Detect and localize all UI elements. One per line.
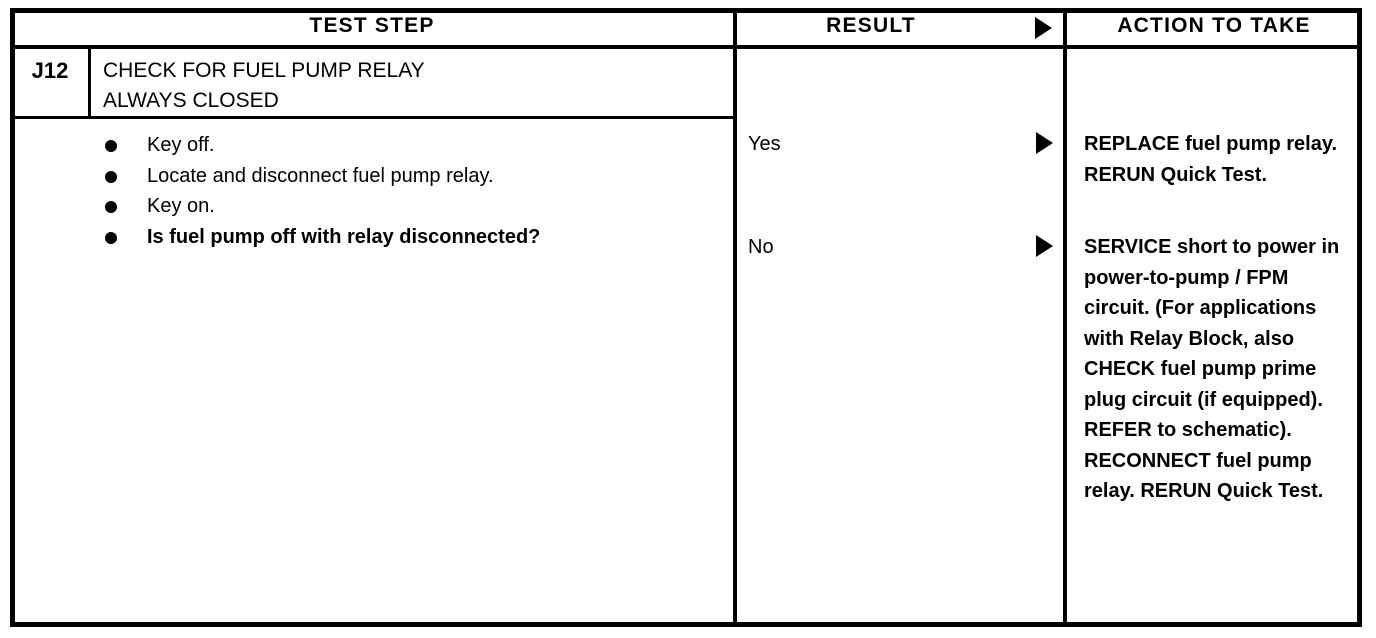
step-title: CHECK FOR FUEL PUMP RELAY ALWAYS CLOSED [103,56,723,116]
column-header-action-to-take: ACTION TO TAKE [1071,14,1357,38]
triangle-right-icon-row-no [1036,235,1053,257]
instruction-question: Is fuel pump off with relay disconnected… [147,226,540,248]
list-item: Key on. [100,191,725,222]
action-text-no: SERVICE short to power in power-to-pump … [1084,232,1346,507]
triangle-right-icon-header [1035,17,1052,39]
instruction-list: Key off. Locate and disconnect fuel pump… [100,130,725,252]
column-divider-action [1063,8,1067,627]
step-id: J12 [14,58,86,84]
bullet-dot-icon [105,232,117,244]
step-id-divider [88,45,91,118]
column-header-test-step: TEST STEP [14,14,730,38]
instruction-text: Locate and disconnect fuel pump relay. [147,165,494,187]
step-title-divider [10,116,733,119]
bullet-dot-icon [105,171,117,183]
list-item: Key off. [100,130,725,161]
column-header-result: RESULT [741,14,1001,38]
result-yes: Yes [748,133,781,156]
list-item: Is fuel pump off with relay disconnected… [100,222,725,253]
action-text-yes: REPLACE fuel pump relay. RERUN Quick Tes… [1084,129,1346,190]
instruction-text: Key on. [147,195,215,217]
column-divider-result [733,8,737,627]
bullet-dot-icon [105,140,117,152]
step-title-line-2: ALWAYS CLOSED [103,86,723,116]
result-no: No [748,236,774,259]
instruction-text: Key off. [147,134,214,156]
bullet-dot-icon [105,201,117,213]
pinpoint-test-page: TEST STEP RESULT ACTION TO TAKE J12 CHEC… [0,0,1376,638]
step-title-line-1: CHECK FOR FUEL PUMP RELAY [103,56,723,86]
triangle-right-icon-row-yes [1036,132,1053,154]
list-item: Locate and disconnect fuel pump relay. [100,161,725,192]
header-divider [10,45,1362,49]
